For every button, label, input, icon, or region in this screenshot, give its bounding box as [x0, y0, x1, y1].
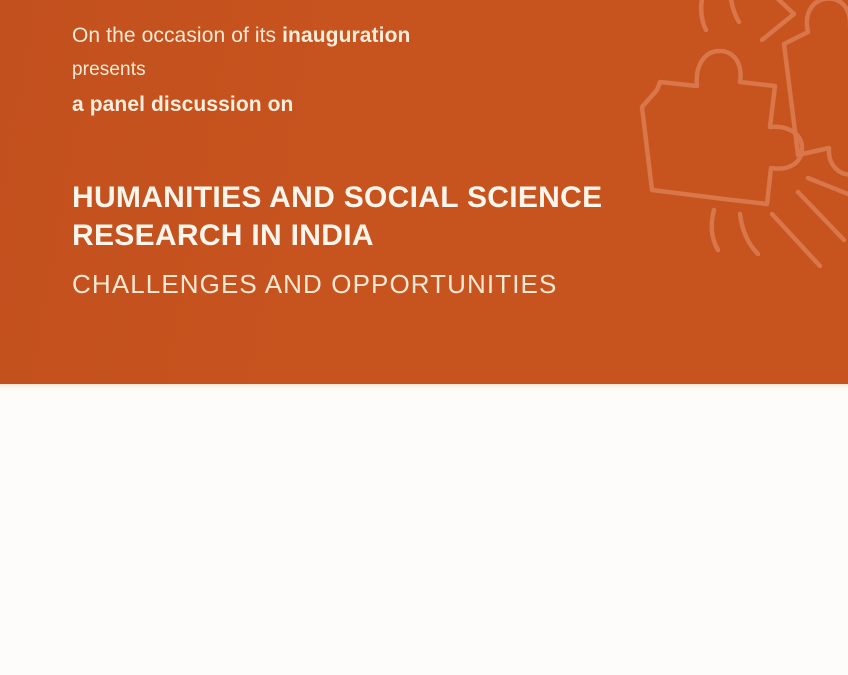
band-bottom-edge: [0, 384, 848, 391]
page-body-blank-area: [0, 391, 848, 675]
kicker-line-2: presents: [72, 53, 672, 87]
hero-text-column: On the occasion of its inauguration pres…: [72, 0, 672, 301]
page-title: HUMANITIES AND SOCIAL SCIENCE RESEARCH I…: [72, 179, 672, 255]
page-title-line-1: HUMANITIES AND SOCIAL SCIENCE: [72, 179, 672, 217]
kicker-line-1-emphasis: inauguration: [282, 24, 410, 47]
poster-canvas: On the occasion of its inauguration pres…: [0, 0, 848, 675]
kicker-line-3: a panel discussion on: [72, 87, 672, 122]
page-title-line-2: RESEARCH IN INDIA: [72, 217, 672, 255]
hero-band: On the occasion of its inauguration pres…: [0, 0, 848, 384]
page-subtitle: CHALLENGES AND OPPORTUNITIES: [72, 267, 672, 301]
kicker-line-1: On the occasion of its inauguration: [72, 18, 672, 53]
kicker-line-1-prefix: On the occasion of its: [72, 24, 282, 47]
